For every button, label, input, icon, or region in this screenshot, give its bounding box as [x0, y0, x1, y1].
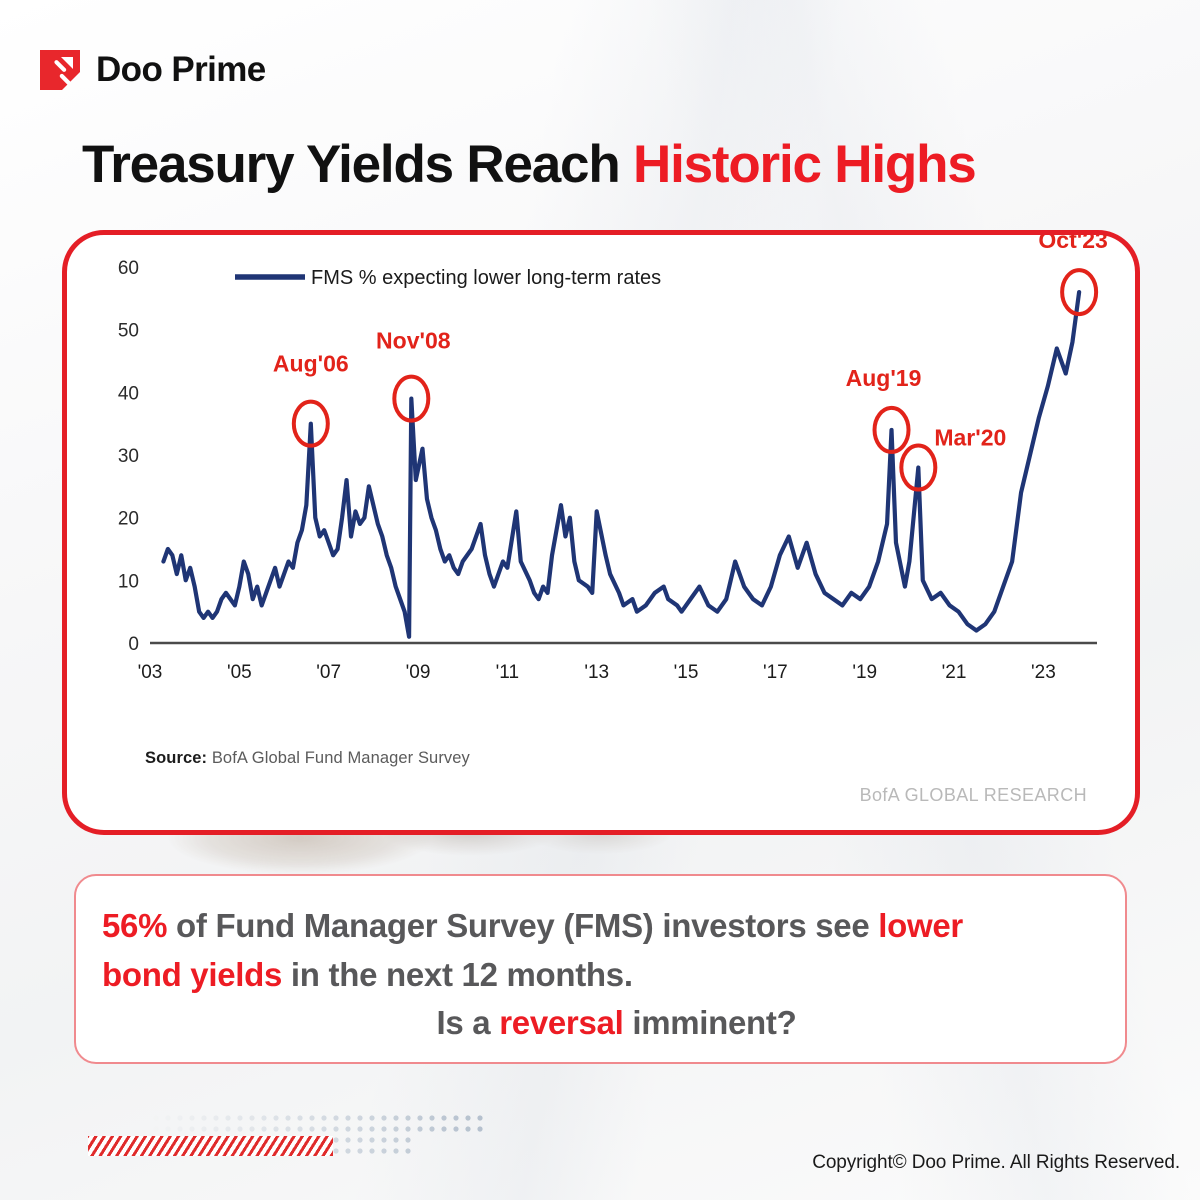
svg-text:'17: '17 [763, 662, 788, 683]
svg-text:'11: '11 [496, 662, 519, 683]
doo-prime-logo-icon [38, 48, 82, 92]
callout-line-2: bond yields in the next 12 months. [102, 951, 1091, 1000]
page-title: Treasury Yields Reach Historic Highs [82, 134, 976, 195]
callout-line-3: Is a reversal imminent? [102, 999, 1091, 1048]
callout-card: 56% of Fund Manager Survey (FMS) investo… [74, 874, 1127, 1064]
svg-text:'21: '21 [942, 662, 967, 683]
svg-text:Oct'23: Oct'23 [1038, 235, 1107, 253]
callout-line2-accent: bond yields [102, 956, 282, 993]
source-text: BofA Global Fund Manager Survey [207, 749, 470, 767]
svg-text:50: 50 [118, 321, 139, 342]
svg-text:'05: '05 [227, 662, 252, 683]
callout-line-1: 56% of Fund Manager Survey (FMS) investo… [102, 902, 1091, 951]
headline-accent: Historic Highs [633, 135, 975, 194]
headline-lead: Treasury Yields Reach [82, 135, 633, 194]
svg-text:'15: '15 [674, 662, 699, 683]
research-watermark: BofA GLOBAL RESEARCH [860, 785, 1087, 806]
copyright-text: Copyright© Doo Prime. All Rights Reserve… [812, 1152, 1180, 1174]
fms-series-line [163, 292, 1079, 637]
svg-text:20: 20 [118, 509, 139, 530]
svg-text:'03: '03 [138, 662, 163, 683]
x-axis-tick-labels: '03'05'07'09'11'13'15'17'19'21'23 [138, 662, 1056, 683]
svg-text:30: 30 [118, 446, 139, 467]
svg-text:Mar'20: Mar'20 [934, 425, 1006, 451]
brand-logo[interactable]: Doo Prime [38, 48, 266, 92]
callout-line1-accent: lower [878, 907, 963, 944]
callout-line1-mid: of Fund Manager Survey (FMS) investors s… [167, 907, 878, 944]
callout-line3-accent: reversal [499, 1004, 623, 1041]
brand-name: Doo Prime [96, 50, 266, 90]
svg-text:Aug'19: Aug'19 [846, 365, 922, 391]
svg-text:10: 10 [118, 571, 139, 592]
chart-source: Source: BofA Global Fund Manager Survey [145, 749, 470, 768]
hatched-bar-decoration [88, 1136, 333, 1156]
svg-text:'23: '23 [1031, 662, 1056, 683]
source-label: Source: [145, 749, 207, 767]
legend-label: FMS % expecting lower long-term rates [311, 267, 661, 289]
svg-text:60: 60 [118, 258, 139, 279]
callout-line3-tail: imminent? [623, 1004, 796, 1041]
callout-line3-lead: Is a [437, 1004, 500, 1041]
chart-container: 0102030405060 '03'05'07'09'11'13'15'17'1… [67, 235, 1135, 830]
svg-text:0: 0 [128, 634, 139, 655]
callout-line2-rest: in the next 12 months. [282, 956, 633, 993]
svg-text:'19: '19 [852, 662, 877, 683]
svg-text:'07: '07 [316, 662, 341, 683]
svg-text:Nov'08: Nov'08 [376, 328, 451, 354]
svg-text:Aug'06: Aug'06 [273, 351, 349, 377]
callout-stat: 56% [102, 907, 167, 944]
svg-text:40: 40 [118, 383, 139, 404]
svg-text:'09: '09 [406, 662, 431, 683]
y-axis-tick-labels: 0102030405060 [118, 258, 139, 655]
chart-card: 0102030405060 '03'05'07'09'11'13'15'17'1… [62, 230, 1140, 835]
svg-text:'13: '13 [584, 662, 609, 683]
fms-line-chart: 0102030405060 '03'05'07'09'11'13'15'17'1… [67, 235, 1135, 755]
